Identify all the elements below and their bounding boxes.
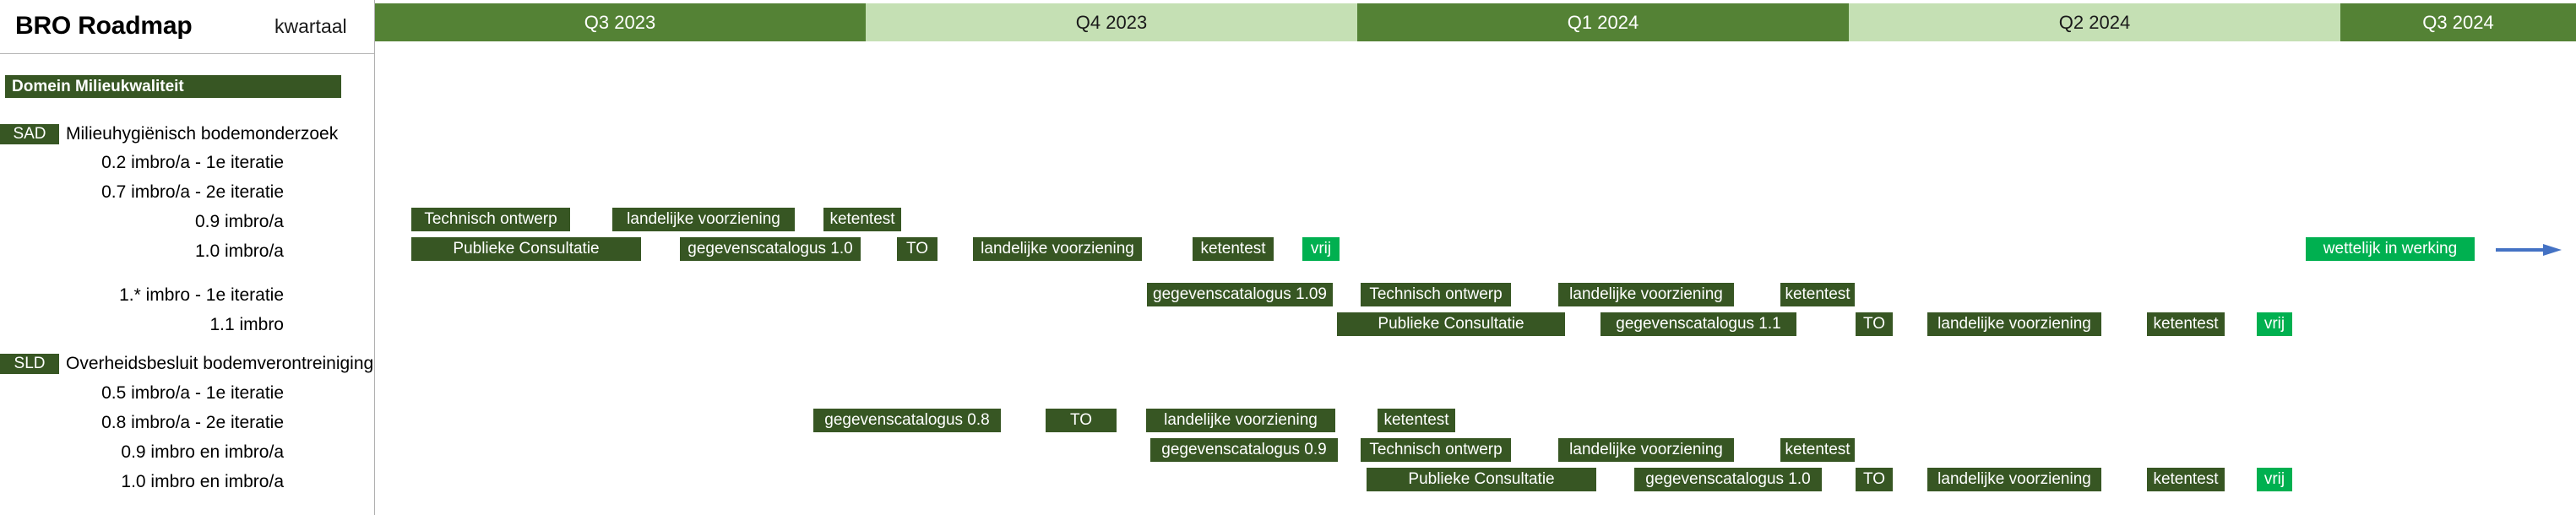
version-row-label[interactable]: 0.2 imbro/a - 1e iteratie	[0, 152, 338, 174]
gantt-bar[interactable]: TO	[1856, 312, 1893, 336]
version-row-label[interactable]: 1.* imbro - 1e iteratie	[0, 285, 338, 306]
version-row-label[interactable]: 0.5 imbro/a - 1e iteratie	[0, 382, 338, 404]
version-row-label[interactable]: 1.1 imbro	[0, 314, 338, 336]
group-row-sld[interactable]: SLDOverheidsbesluit bodemverontreiniging	[0, 353, 373, 375]
gantt-bar[interactable]: ketentest	[1780, 283, 1855, 306]
group-row-sad[interactable]: SADMilieuhygiënisch bodemonderzoek	[0, 123, 338, 145]
version-row-label[interactable]: 1.0 imbro en imbro/a	[0, 471, 338, 493]
timeline-quarter-label: Q2 2024	[2059, 12, 2130, 34]
gantt-bar[interactable]: gegevenscatalogus 1.0	[1634, 468, 1822, 491]
version-row-label[interactable]: 0.7 imbro/a - 2e iteratie	[0, 182, 338, 203]
gantt-bar[interactable]: gegevenscatalogus 1.1	[1600, 312, 1796, 336]
gantt-bar[interactable]: TO	[1046, 409, 1117, 432]
timeline-quarter-q4-2023[interactable]: Q4 2023	[866, 3, 1357, 41]
gantt-bar[interactable]: gegevenscatalogus 1.0	[680, 237, 861, 261]
timeline-quarter-label: Q3 2023	[584, 12, 655, 34]
gantt-bar[interactable]: vrij	[1302, 237, 1340, 261]
gantt-bar[interactable]: ketentest	[2147, 468, 2225, 491]
gantt-bar[interactable]: landelijke voorziening	[1558, 438, 1734, 462]
timeline-quarter-q1-2024[interactable]: Q1 2024	[1357, 3, 1849, 41]
version-row-label[interactable]: 0.9 imbro en imbro/a	[0, 442, 338, 463]
timeline-quarter-q3-2024[interactable]: Q3 2024	[2340, 3, 2576, 41]
timeline-quarter-label: Q1 2024	[1568, 12, 1639, 34]
timeline-quarter-q2-2024[interactable]: Q2 2024	[1849, 3, 2340, 41]
gantt-bar[interactable]: vrij	[2257, 468, 2292, 491]
version-row-label[interactable]: 0.8 imbro/a - 2e iteratie	[0, 412, 338, 434]
continuation-arrow-icon	[2496, 243, 2562, 257]
gantt-bar[interactable]: wettelijk in werking	[2306, 237, 2475, 261]
gantt-bar[interactable]: Publieke Consultatie	[1367, 468, 1596, 491]
timeline-quarter-q3-2023[interactable]: Q3 2023	[374, 3, 866, 41]
gantt-bar[interactable]: Publieke Consultatie	[1337, 312, 1565, 336]
gantt-bar[interactable]: ketentest	[1780, 438, 1855, 462]
timeline-unit-label: kwartaal	[274, 15, 347, 38]
group-badge: SLD	[0, 354, 59, 374]
group-badge: SAD	[0, 124, 59, 144]
timeline-quarter-label: Q3 2024	[2422, 12, 2493, 34]
gantt-bar[interactable]: landelijke voorziening	[612, 208, 795, 231]
gantt-bar[interactable]: landelijke voorziening	[1927, 468, 2101, 491]
group-name: Milieuhygiënisch bodemonderzoek	[66, 124, 338, 144]
timeline-quarter-label: Q4 2023	[1076, 12, 1147, 34]
gantt-bar[interactable]: gegevenscatalogus 1.09	[1147, 283, 1333, 306]
gantt-bar[interactable]: ketentest	[1193, 237, 1274, 261]
gantt-bar[interactable]: gegevenscatalogus 0.8	[813, 409, 1001, 432]
version-row-label[interactable]: 1.0 imbro/a	[0, 241, 338, 263]
timeline-header: Q3 2023Q4 2023Q1 2024Q2 2024Q3 2024	[374, 3, 2576, 41]
gantt-bar[interactable]: Publieke Consultatie	[411, 237, 641, 261]
header-divider	[0, 53, 374, 54]
gantt-bar[interactable]: landelijke voorziening	[1558, 283, 1734, 306]
roadmap-canvas: BRO Roadmap kwartaal Q3 2023Q4 2023Q1 20…	[0, 0, 2576, 515]
domain-banner: Domein Milieukwaliteit	[5, 75, 341, 98]
gantt-bar[interactable]: landelijke voorziening	[1927, 312, 2101, 336]
group-name: Overheidsbesluit bodemverontreiniging	[66, 354, 373, 374]
gantt-bar[interactable]: Technisch ontwerp	[411, 208, 570, 231]
gantt-bar[interactable]: ketentest	[1378, 409, 1455, 432]
gantt-bar[interactable]: Technisch ontwerp	[1361, 438, 1511, 462]
gantt-bar[interactable]: TO	[897, 237, 937, 261]
gantt-bar[interactable]: vrij	[2257, 312, 2292, 336]
gantt-bar[interactable]: TO	[1856, 468, 1893, 491]
version-row-label[interactable]: 0.9 imbro/a	[0, 211, 338, 233]
page-title: BRO Roadmap	[15, 12, 193, 41]
gantt-bar[interactable]: landelijke voorziening	[973, 237, 1142, 261]
gantt-bar[interactable]: ketentest	[2147, 312, 2225, 336]
gantt-bar[interactable]: gegevenscatalogus 0.9	[1150, 438, 1338, 462]
gantt-bar[interactable]: ketentest	[823, 208, 901, 231]
gantt-bar[interactable]: landelijke voorziening	[1146, 409, 1335, 432]
label-column-divider	[374, 0, 375, 515]
gantt-bar[interactable]: Technisch ontwerp	[1361, 283, 1511, 306]
